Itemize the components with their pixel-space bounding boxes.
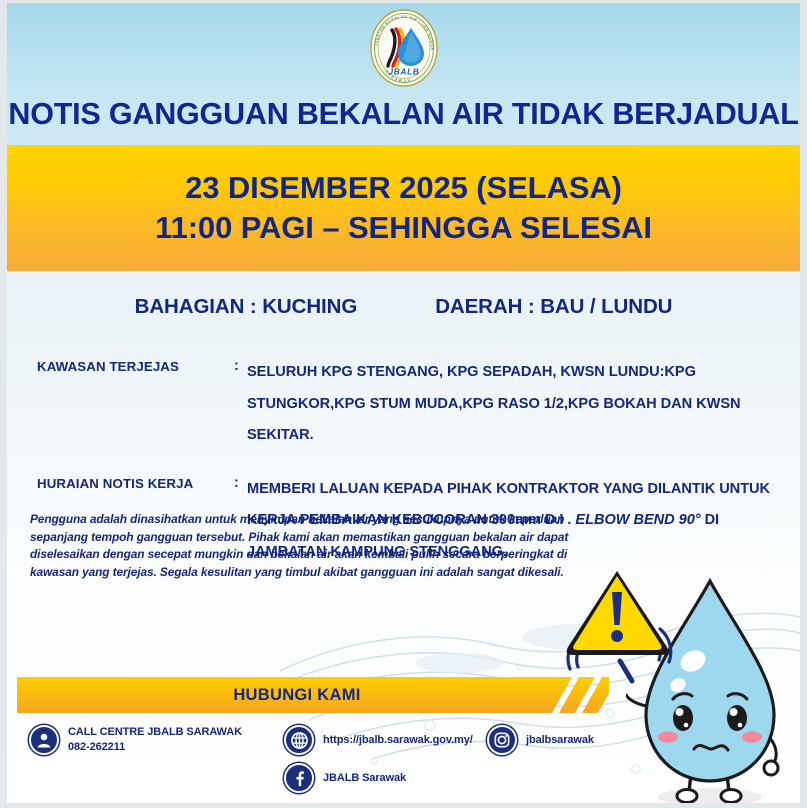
date-time-banner: 23 DISEMBER 2025 (SELASA) 11:00 PAGI – S… (7, 145, 800, 271)
kawasan-terjejas-row: KAWASAN TERJEJAS : SELURUH KPG STENGANG,… (37, 357, 800, 452)
page-title: NOTIS GANGGUAN BEKALAN AIR TIDAK BERJADU… (7, 97, 800, 132)
call-centre-name: CALL CENTRE JBALB SARAWAK (68, 725, 242, 740)
contact-website[interactable]: https://jbalb.sarawak.gov.my/ (284, 725, 473, 755)
notice-time: 11:00 PAGI – SEHINGGA SELESAI (155, 210, 652, 246)
facebook-icon (284, 763, 314, 793)
contact-instagram[interactable]: jbalbsarawak (487, 725, 594, 755)
huraian-text-italic: ELBOW BEND 90° (575, 512, 700, 528)
call-centre-person-icon (29, 725, 59, 755)
notice-date: 23 DISEMBER 2025 (SELASA) (185, 170, 622, 206)
contact-call-centre[interactable]: CALL CENTRE JBALB SARAWAK 082-262211 (29, 725, 242, 755)
region-row: BAHAGIAN : KUCHING DAERAH : BAU / LUNDU (7, 271, 800, 319)
poster-footer: HUBUNGI KAMI CALL CENTRE JBALB SARAWAK 0… (7, 675, 800, 803)
poster-header: JABATAN BEKALAN AIR LUAR BANDAR SARAWAK … (7, 3, 800, 145)
kawasan-terjejas-label: KAWASAN TERJEJAS (37, 357, 234, 374)
kawasan-colon: : (234, 357, 247, 374)
warning-triangle-icon (562, 559, 680, 685)
website-url: https://jbalb.sarawak.gov.my/ (323, 733, 473, 748)
globe-icon (284, 725, 314, 755)
call-centre-phone: 082-262211 (68, 740, 242, 755)
instagram-icon (487, 725, 517, 755)
jbalb-sarawak-logo: JABATAN BEKALAN AIR LUAR BANDAR SARAWAK … (366, 8, 442, 88)
huraian-colon: : (234, 474, 247, 491)
advisory-note: Pengguna adalah dinasihatkan untuk menyi… (30, 511, 590, 581)
svg-text:JBALB: JBALB (388, 67, 419, 77)
notice-poster: JABATAN BEKALAN AIR LUAR BANDAR SARAWAK … (7, 3, 800, 803)
facebook-page-name: JBALB Sarawak (323, 771, 406, 786)
contact-facebook[interactable]: JBALB Sarawak (284, 763, 406, 793)
huraian-notis-kerja-label: HURAIAN NOTIS KERJA (37, 474, 234, 491)
bahagian-label: BAHAGIAN : KUCHING (135, 295, 358, 319)
instagram-handle: jbalbsarawak (526, 733, 594, 748)
kawasan-terjejas-value: SELURUH KPG STENGANG, KPG SEPADAH, KWSN … (247, 357, 787, 452)
hubungi-kami-heading: HUBUNGI KAMI (17, 677, 577, 713)
daerah-label: DAERAH : BAU / LUNDU (435, 295, 672, 319)
